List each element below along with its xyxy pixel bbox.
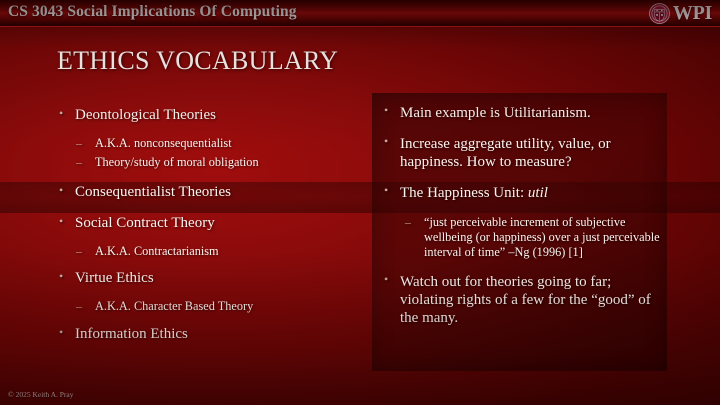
copyright-footer: © 2025 Keith A. Pray bbox=[8, 390, 74, 399]
left-content-column: Deontological Theories A.K.A. nonconsequ… bbox=[57, 107, 362, 354]
happiness-unit-emphasis: util bbox=[528, 185, 548, 201]
happiness-unit-label: The Happiness Unit: bbox=[400, 185, 528, 201]
wpi-seal-icon bbox=[649, 3, 670, 24]
list-item: Consequentialist Theories bbox=[57, 184, 362, 202]
wpi-logo: WPI bbox=[649, 1, 712, 26]
slide: CS 3043 Social Implications Of Computing… bbox=[0, 0, 720, 405]
list-item: “just perceivable increment of subjectiv… bbox=[404, 215, 660, 259]
slide-header-bar: CS 3043 Social Implications Of Computing… bbox=[0, 0, 720, 27]
list-item: A.K.A. nonconsequentialist bbox=[75, 136, 362, 151]
page-title: ETHICS VOCABULARY bbox=[57, 46, 338, 76]
list-item: Theory/study of moral obligation bbox=[75, 155, 362, 170]
list-item: Virtue Ethics bbox=[57, 270, 362, 288]
list-item: Watch out for theories going to far; vio… bbox=[382, 273, 660, 327]
list-item: A.K.A. Character Based Theory bbox=[75, 299, 362, 314]
list-item: A.K.A. Contractarianism bbox=[75, 244, 362, 259]
list-item: The Happiness Unit: util bbox=[382, 184, 660, 202]
list-item: Deontological Theories bbox=[57, 107, 362, 125]
list-item: Social Contract Theory bbox=[57, 215, 362, 233]
right-content-column: Main example is Utilitarianism. Increase… bbox=[382, 104, 660, 340]
list-item: Information Ethics bbox=[57, 326, 362, 344]
list-item: Main example is Utilitarianism. bbox=[382, 104, 660, 122]
list-item: Increase aggregate utility, value, or ha… bbox=[382, 135, 660, 171]
right-content-panel: Main example is Utilitarianism. Increase… bbox=[372, 93, 667, 371]
course-title: CS 3043 Social Implications Of Computing bbox=[8, 3, 297, 21]
wpi-wordmark: WPI bbox=[673, 3, 712, 24]
